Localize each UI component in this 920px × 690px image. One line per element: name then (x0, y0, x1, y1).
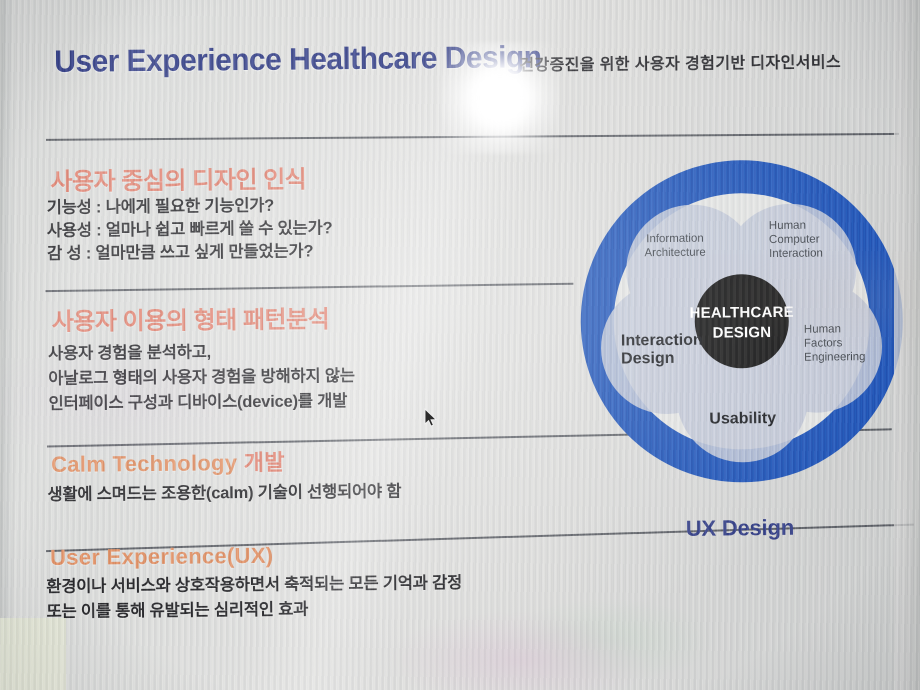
section-3-heading-ko: 개발 (244, 450, 285, 475)
label-human-factors-engineering-line3: Engineering (804, 351, 866, 364)
diagram-caption: UX Design (686, 515, 794, 542)
section-3-line-1: 생활에 스며드는 조용한(calm) 기술이 선행되어야 함 (47, 478, 401, 505)
section-2-line-1: 사용자 경험을 분석하고, (48, 338, 211, 364)
label-human-factors-engineering-line2: Factors (804, 337, 843, 349)
mouse-cursor-icon (424, 408, 438, 428)
divider-2 (45, 283, 573, 292)
label-human-computer-interaction-line3: Interaction (769, 248, 823, 261)
label-interaction-design-line1: Interaction (621, 332, 703, 350)
presentation-slide: User Experience Healthcare Design 건강증진을 … (0, 0, 920, 690)
screen-edge-left (0, 0, 14, 690)
corner-patch (0, 618, 66, 690)
label-human-computer-interaction-line2: Computer (769, 234, 820, 246)
section-2-line-3: 인터페이스 구성과 디바이스(device)를 개발 (48, 387, 347, 414)
screen-edge-right (894, 0, 920, 690)
divider-1 (46, 133, 899, 141)
section-4-heading: User Experience(UX) (50, 543, 274, 571)
core-label-line2: DESIGN (712, 324, 771, 342)
page-subtitle: 건강증진을 위한 사용자 경험기반 디자인서비스 (519, 48, 841, 75)
core-label-line1: HEALTHCARE (690, 304, 794, 322)
label-information-architecture-line1: Information (646, 233, 704, 246)
label-information-architecture-line2: Architecture (644, 247, 705, 260)
page-title: User Experience Healthcare Design (54, 39, 542, 80)
label-human-factors-engineering-line1: Human (804, 323, 841, 335)
section-2-heading: 사용자 이용의 형태 패턴분석 (52, 299, 330, 337)
section-3-heading: Calm Technology 개발 (51, 445, 285, 479)
section-1-line-1: 기능성 : 나에게 필요한 기능인가? (47, 192, 275, 218)
label-human-computer-interaction-line1: Human (769, 220, 806, 232)
photographed-screen: User Experience Healthcare Design 건강증진을 … (0, 0, 920, 690)
section-3-heading-en: Calm Technology (51, 450, 237, 477)
section-1-line-3: 감 성 : 얼마만큼 쓰고 싶게 만들었는가? (47, 237, 313, 264)
section-4-line-2: 또는 이를 통해 유발되는 심리적인 효과 (46, 595, 308, 622)
ux-design-venn-diagram: HEALTHCARE DESIGN Information Architectu… (561, 141, 920, 502)
label-interaction-design-line2: Design (621, 350, 675, 368)
section-4-line-1: 환경이나 서비스와 상호작용하면서 축적되는 모든 기억과 감정 (46, 569, 462, 597)
label-usability: Usability (709, 410, 776, 428)
section-2-line-2: 아날로그 형태의 사용자 경험을 방해하지 않는 (48, 362, 355, 389)
